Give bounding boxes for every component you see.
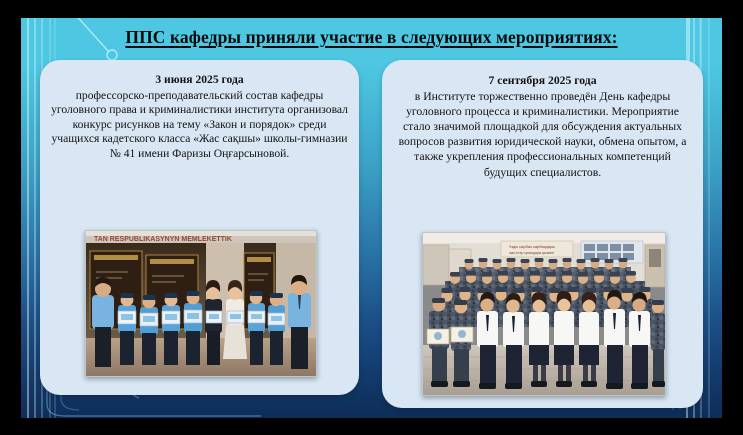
event-left-text: 3 июня 2025 годапрофессорско-преподавате… (40, 60, 359, 162)
slide-canvas: ППС кафедры приняли участие в следующих … (0, 0, 743, 435)
svg-text:ішкі істер органдары қызметі: ішкі істер органдары қызметі (509, 251, 554, 255)
photo-cadets-drawing-contest: TAN RESPUBLIKASYNYN MEMLEKETTIK (85, 230, 317, 377)
event-right-body: в Институте торжественно проведён День к… (399, 90, 687, 178)
svg-text:TAN RESPUBLIKASYNYN MEMLEKETTI: TAN RESPUBLIKASYNYN MEMLEKETTIK (94, 236, 232, 243)
photo-department-day-group: Үздік сарбаз сарбаздары ішкі істер орган… (422, 232, 666, 396)
event-left-date: 3 июня 2025 года (51, 73, 348, 88)
event-right-text: 7 сентября 2025 годав Институте торжеств… (382, 60, 703, 180)
presentation-slide: ППС кафедры приняли участие в следующих … (21, 18, 722, 418)
event-right-date: 7 сентября 2025 года (393, 73, 692, 88)
event-card-left: 3 июня 2025 годапрофессорско-преподавате… (40, 60, 359, 395)
event-card-right: 7 сентября 2025 годав Институте торжеств… (382, 60, 703, 408)
page-title: ППС кафедры приняли участие в следующих … (21, 27, 722, 48)
header-band: ППС кафедры приняли участие в следующих … (21, 18, 722, 65)
svg-text:Үздік сарбаз сарбаздары: Үздік сарбаз сарбаздары (509, 244, 555, 249)
event-left-body: профессорско-преподавательский состав ка… (51, 89, 348, 160)
